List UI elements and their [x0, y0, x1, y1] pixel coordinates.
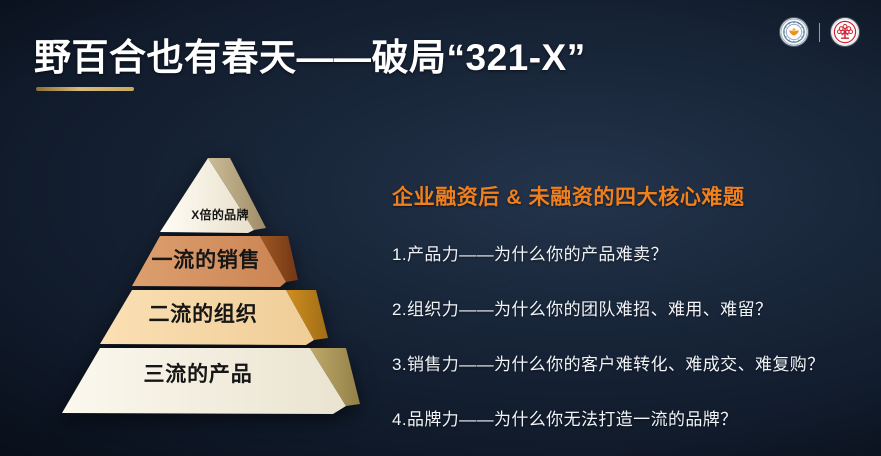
list-item: 4.品牌力——为什么你无法打造一流的品牌？ — [392, 405, 872, 430]
page-title: 野百合也有春天——破局“321-X” — [34, 27, 586, 81]
list-item: 2.组织力——为什么你的团队难招、难用、难留？ — [392, 295, 872, 320]
presentation-slide: 野百合也有春天——破局“321-X” — [0, 0, 881, 456]
university-emblem-logo — [780, 18, 808, 46]
list-item: 1.产品力——为什么你的产品难卖？ — [392, 240, 872, 265]
logo-group — [780, 18, 859, 46]
four-tier-pyramid: X倍的品牌 一流的销售 二流的组织 三流的产品 — [48, 148, 368, 426]
section-heading: 企业融资后 & 未融资的四大核心难题 — [392, 181, 745, 211]
title-underline-rule — [36, 87, 134, 91]
problem-list: 1.产品力——为什么你的产品难卖？ 2.组织力——为什么你的团队难招、难用、难留… — [392, 240, 872, 430]
red-tree-logo — [831, 18, 859, 46]
logo-divider — [819, 23, 820, 42]
list-item: 3.销售力——为什么你的客户难转化、难成交、难复购？ — [392, 350, 872, 375]
